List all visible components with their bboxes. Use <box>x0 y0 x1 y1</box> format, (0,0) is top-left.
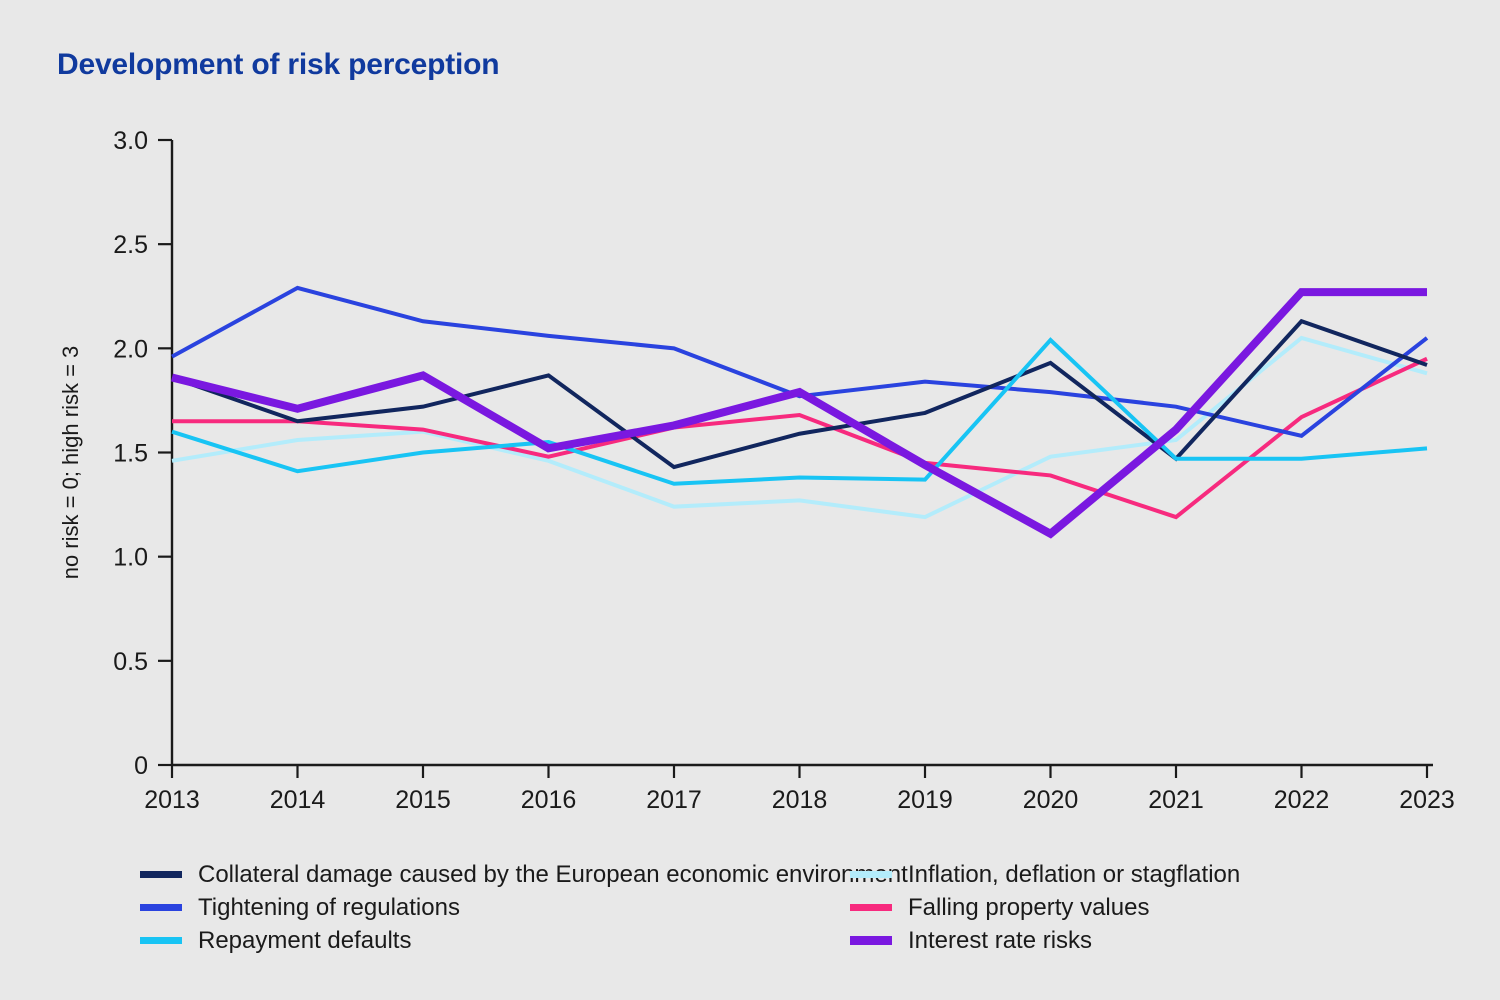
x-tick-label: 2023 <box>1399 786 1455 814</box>
legend-item[interactable]: Repayment defaults <box>140 924 800 957</box>
y-tick-label: 0 <box>134 752 148 780</box>
x-tick-label: 2014 <box>270 786 326 814</box>
tick-label-group: 3.02.52.01.51.00.50201320142015201620172… <box>58 127 1455 814</box>
legend-item[interactable]: Interest rate risks <box>850 924 1460 957</box>
y-tick-label: 1.0 <box>113 544 148 572</box>
x-tick-label: 2021 <box>1148 786 1204 814</box>
y-tick-label: 0.5 <box>113 648 148 676</box>
y-tick-label: 1.5 <box>113 440 148 468</box>
legend-column-right: Inflation, deflation or stagflationFalli… <box>800 858 1460 957</box>
legend-color-swatch <box>140 904 182 911</box>
legend-item-label: Inflation, deflation or stagflation <box>908 863 1240 887</box>
x-tick-label: 2018 <box>772 786 828 814</box>
legend-item[interactable]: Falling property values <box>850 891 1460 924</box>
legend-item-label: Repayment defaults <box>198 929 411 953</box>
y-tick-label: 2.5 <box>113 231 148 259</box>
chart-legend: Collateral damage caused by the European… <box>140 858 1460 957</box>
x-tick-label: 2017 <box>646 786 702 814</box>
x-tick-label: 2020 <box>1023 786 1079 814</box>
legend-item[interactable]: Inflation, deflation or stagflation <box>850 858 1460 891</box>
x-tick-label: 2022 <box>1274 786 1330 814</box>
legend-item-label: Tightening of regulations <box>198 896 460 920</box>
y-tick-label: 3.0 <box>113 127 148 155</box>
legend-item-label: Interest rate risks <box>908 929 1092 953</box>
series-group <box>172 288 1427 534</box>
line-chart-svg: 3.02.52.01.51.00.50201320142015201620172… <box>0 0 1500 1000</box>
x-tick-label: 2016 <box>521 786 577 814</box>
y-axis-caption: no risk = 0; high risk = 3 <box>58 346 83 580</box>
x-tick-label: 2015 <box>395 786 451 814</box>
legend-item[interactable]: Collateral damage caused by the European… <box>140 858 800 891</box>
legend-color-swatch <box>140 871 182 878</box>
legend-column-left: Collateral damage caused by the European… <box>140 858 800 957</box>
x-tick-label: 2019 <box>897 786 953 814</box>
legend-item[interactable]: Tightening of regulations <box>140 891 800 924</box>
plot-area: 3.02.52.01.51.00.50201320142015201620172… <box>0 0 1500 1000</box>
legend-color-swatch <box>140 937 182 944</box>
legend-color-swatch <box>850 904 892 911</box>
x-tick-label: 2013 <box>144 786 200 814</box>
legend-color-swatch <box>850 871 892 878</box>
chart-page: Development of risk perception 3.02.52.0… <box>0 0 1500 1000</box>
legend-item-label: Falling property values <box>908 896 1149 920</box>
legend-color-swatch <box>850 936 892 945</box>
y-tick-label: 2.0 <box>113 335 148 363</box>
series-line <box>172 359 1427 517</box>
